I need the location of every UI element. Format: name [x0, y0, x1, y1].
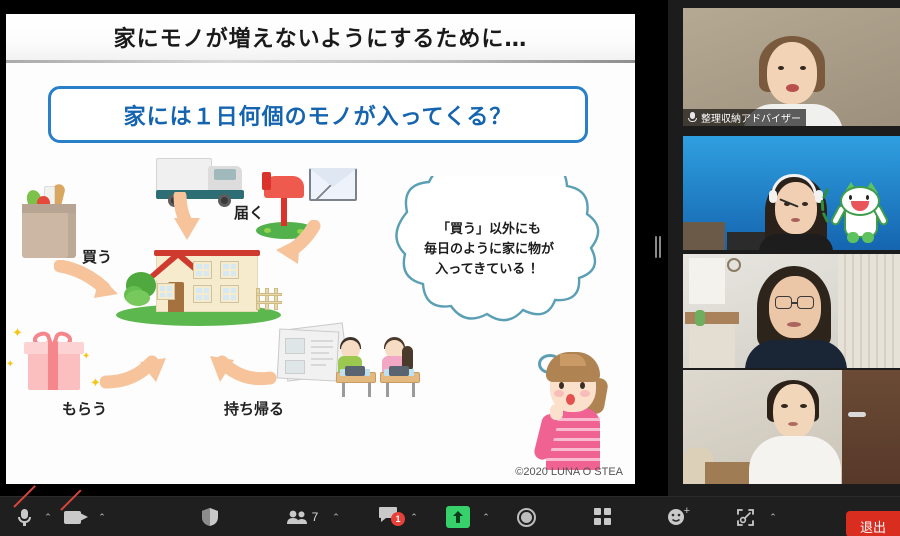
- arrow-truck-to-house: [166, 192, 216, 248]
- reactions-smiley-icon: +: [667, 507, 689, 527]
- video-tile-4[interactable]: [683, 370, 900, 484]
- video-off-icon: [64, 509, 88, 525]
- microphone-muted-icon: [17, 508, 32, 526]
- label-bring-home: 持ち帰る: [224, 398, 284, 419]
- chevron-up-icon: ⌃: [482, 512, 490, 523]
- record-icon: [517, 508, 536, 527]
- label-deliver: 届く: [234, 202, 264, 223]
- chat-unread-badge: 1: [391, 512, 405, 526]
- slide-title-band: 家にモノが増えないようにするために…: [6, 14, 635, 60]
- thought-cloud-text: 「買う」以外にも 毎日のように家に物が 入ってきている ！: [361, 220, 617, 280]
- record-button[interactable]: [508, 497, 544, 536]
- video-button[interactable]: [58, 497, 94, 536]
- envelope-icon: [309, 168, 357, 201]
- participant-name: 整理収納アドバイザー: [701, 110, 801, 125]
- video-tile-2[interactable]: [683, 136, 900, 250]
- share-screen-icon: [446, 506, 470, 528]
- page-title: 家にモノが増えないようにするために…: [114, 21, 528, 53]
- arrow-bringhome-to-house: [192, 338, 278, 394]
- arrow-buy-to-house: [54, 260, 124, 310]
- door: [842, 370, 900, 484]
- chat-button[interactable]: 1: [370, 497, 406, 536]
- tile-1-name-label: 整理収納アドバイザー: [683, 109, 806, 126]
- gift-box-icon: [20, 330, 86, 394]
- children-desks-icon: [336, 336, 422, 398]
- cloud-line-1: 「買う」以外にも: [361, 220, 617, 240]
- remote-options-caret[interactable]: ⌃: [765, 497, 781, 536]
- video-tile-3[interactable]: [683, 254, 900, 368]
- question-text: 家には１日何個のモノが入ってくる？: [124, 99, 513, 131]
- participants-button[interactable]: 7: [272, 497, 332, 536]
- grocery-bag-icon: [18, 182, 80, 258]
- leave-meeting-button[interactable]: 退出: [846, 511, 900, 536]
- chevron-up-icon: ⌃: [769, 512, 777, 523]
- grid-icon: [594, 508, 612, 526]
- panel-resize-handle[interactable]: [654, 236, 662, 258]
- chevron-up-icon: ⌃: [410, 512, 418, 523]
- video-options-caret[interactable]: ⌃: [94, 497, 110, 536]
- label-receive: もらう: [62, 398, 107, 419]
- remote-control-icon: [736, 508, 755, 527]
- shared-screen-area[interactable]: 家にモノが増えないようにするために… 家には１日何個のモノが入ってくる？ 買う: [0, 0, 668, 496]
- question-box: 家には１日何個のモノが入ってくる？: [48, 86, 588, 143]
- remote-control-button[interactable]: [727, 497, 763, 536]
- flow-diagram: 買う 届く: [6, 154, 635, 484]
- chevron-up-icon: ⌃: [332, 512, 340, 523]
- participants-count: 7: [312, 510, 319, 524]
- participant-video-strip: 整理収納アドバイザー: [668, 0, 900, 496]
- participants-options-caret[interactable]: ⌃: [328, 497, 344, 536]
- chat-options-caret[interactable]: ⌃: [406, 497, 422, 536]
- presentation-slide: 家にモノが増えないようにするために… 家には１日何個のモノが入ってくる？ 買う: [6, 14, 635, 484]
- thinking-girl-illustration: [530, 342, 616, 472]
- arrow-mail-to-house: [262, 220, 324, 276]
- security-button[interactable]: [192, 497, 228, 536]
- mic-muted-icon: [688, 112, 697, 123]
- reactions-button[interactable]: +: [660, 497, 696, 536]
- meeting-toolbar: ⌃ ⌃ 7 ⌃: [0, 496, 900, 536]
- window-blinds: [838, 254, 900, 368]
- mute-button[interactable]: [6, 497, 42, 536]
- shield-icon: [201, 507, 219, 527]
- cloud-line-3: 入ってきている ！: [361, 260, 617, 280]
- copyright-text: ©2020 LUNA O STEA: [515, 466, 623, 478]
- cloud-line-2: 毎日のように家に物が: [361, 240, 617, 260]
- cat-mascot-sticker: [832, 182, 888, 244]
- chevron-up-icon: ⌃: [98, 512, 106, 523]
- participants-icon: [286, 510, 308, 525]
- breakout-rooms-button[interactable]: [585, 497, 621, 536]
- zoom-meeting-window: 家にモノが増えないようにするために… 家には１日何個のモノが入ってくる？ 買う: [0, 0, 900, 536]
- title-divider: [6, 60, 635, 63]
- video-tile-1[interactable]: 整理収納アドバイザー: [683, 8, 900, 126]
- thought-cloud: 「買う」以外にも 毎日のように家に物が 入ってきている ！: [361, 176, 617, 328]
- share-options-caret[interactable]: ⌃: [478, 497, 494, 536]
- share-screen-button[interactable]: [440, 497, 476, 536]
- arrow-gift-to-house: [100, 340, 178, 396]
- chevron-up-icon: ⌃: [44, 512, 52, 523]
- mute-options-caret[interactable]: ⌃: [40, 497, 56, 536]
